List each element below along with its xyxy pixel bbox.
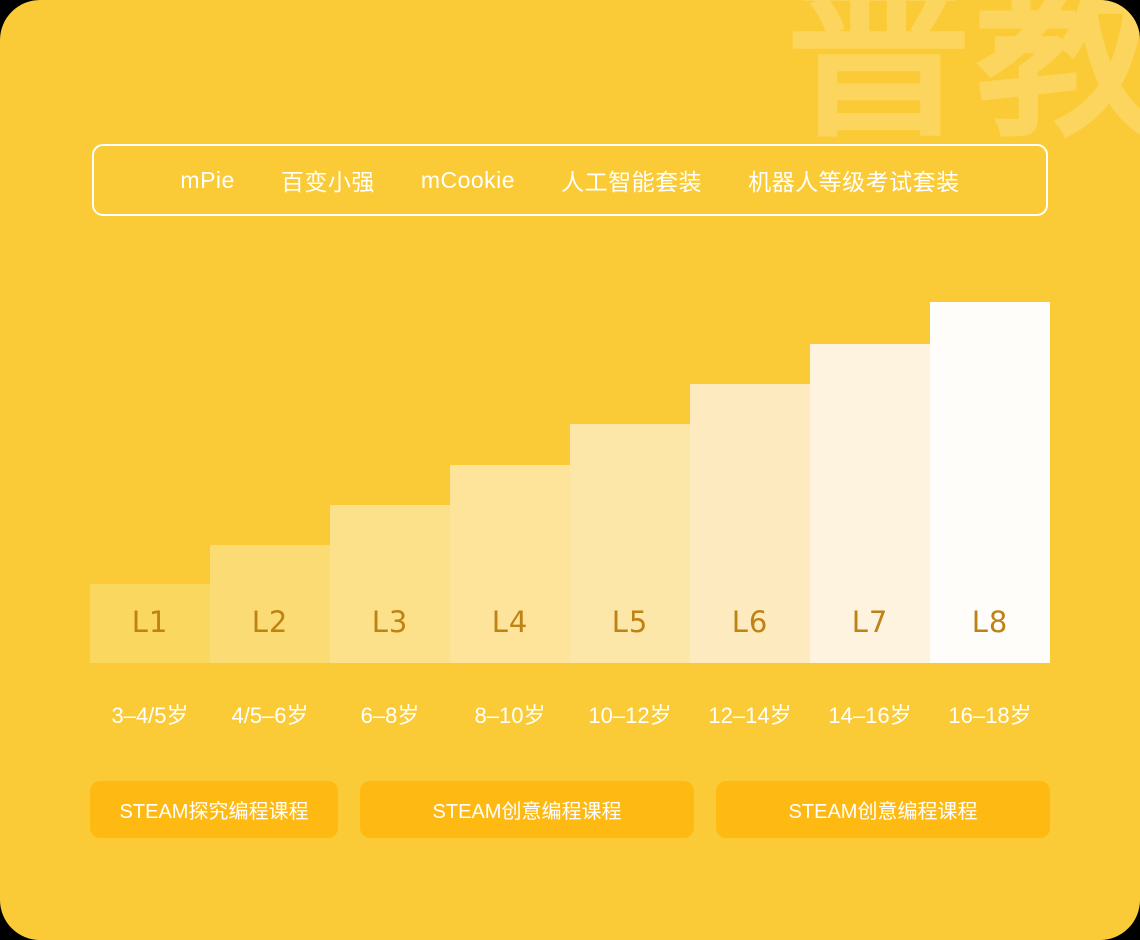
course-button-0[interactable]: STEAM探究编程课程: [90, 781, 338, 838]
product-nav-bar: mPie百变小强mCookie人工智能套装机器人等级考试套装: [92, 144, 1048, 216]
course-level-card: 普教 mPie百变小强mCookie人工智能套装机器人等级考试套装 L1L2L3…: [0, 0, 1140, 940]
bar-l7[interactable]: L7: [810, 344, 930, 663]
bar-label-l4: L4: [492, 605, 529, 663]
bar-label-l6: L6: [732, 605, 769, 663]
age-label-0: 3–4/5岁: [90, 698, 210, 730]
course-button-2[interactable]: STEAM创意编程课程: [716, 781, 1050, 838]
bar-l6[interactable]: L6: [690, 384, 810, 663]
age-label-6: 14–16岁: [810, 698, 930, 730]
bar-l2[interactable]: L2: [210, 545, 330, 663]
bar-l4[interactable]: L4: [450, 465, 570, 663]
bar-label-l7: L7: [852, 605, 889, 663]
bar-label-l5: L5: [612, 605, 649, 663]
level-bar-chart: L1L2L3L4L5L6L7L8: [90, 286, 1050, 663]
bar-label-l8: L8: [972, 605, 1009, 663]
age-label-3: 8–10岁: [450, 698, 570, 730]
bar-l1[interactable]: L1: [90, 584, 210, 663]
age-label-5: 12–14岁: [690, 698, 810, 730]
nav-item-0[interactable]: mPie: [157, 167, 257, 194]
nav-item-4[interactable]: 机器人等级考试套装: [725, 163, 983, 197]
age-range-row: 3–4/5岁4/5–6岁6–8岁8–10岁10–12岁12–14岁14–16岁1…: [90, 698, 1050, 730]
age-label-7: 16–18岁: [930, 698, 1050, 730]
nav-item-3[interactable]: 人工智能套装: [538, 163, 725, 197]
bar-label-l1: L1: [132, 605, 169, 663]
bar-l3[interactable]: L3: [330, 505, 450, 663]
bar-l5[interactable]: L5: [570, 424, 690, 663]
course-button-1[interactable]: STEAM创意编程课程: [360, 781, 694, 838]
bar-label-l2: L2: [252, 605, 289, 663]
watermark-text: 普教: [786, 0, 1140, 146]
course-button-row: STEAM探究编程课程STEAM创意编程课程STEAM创意编程课程: [90, 781, 1050, 838]
age-label-4: 10–12岁: [570, 698, 690, 730]
nav-item-2[interactable]: mCookie: [398, 167, 538, 194]
age-label-1: 4/5–6岁: [210, 698, 330, 730]
bar-label-l3: L3: [372, 605, 409, 663]
nav-item-1[interactable]: 百变小强: [258, 163, 398, 197]
age-label-2: 6–8岁: [330, 698, 450, 730]
bar-l8[interactable]: L8: [930, 302, 1050, 663]
